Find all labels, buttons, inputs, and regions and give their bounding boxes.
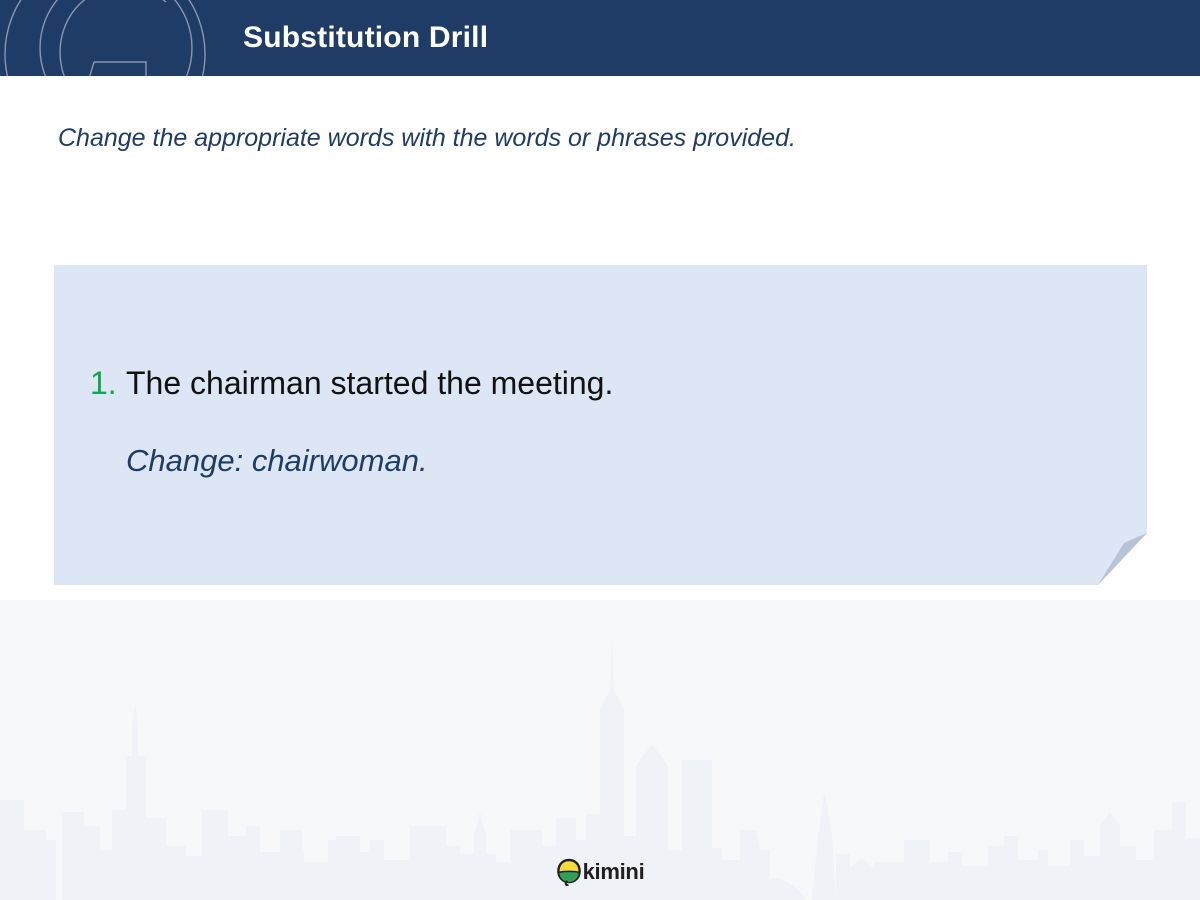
instruction-text: Change the appropriate words with the wo… (58, 120, 796, 156)
item-main-row: 1. The chairman started the meeting. (90, 360, 1090, 406)
item-change-instruction: Change: chairwoman. (126, 439, 1090, 483)
g-monogram-outline-icon (0, 0, 220, 76)
item-number: 1. (90, 360, 126, 406)
page-title: Substitution Drill (243, 0, 488, 76)
content-card: 1. The chairman started the meeting. Cha… (54, 265, 1147, 585)
header-bar: Substitution Drill (0, 0, 1200, 76)
kimini-balloon-icon (556, 858, 582, 886)
list-item: 1. The chairman started the meeting. Cha… (90, 360, 1090, 483)
footer-brand: kimini (0, 852, 1200, 892)
brand-name: kimini (583, 858, 645, 886)
slide-root: Substitution Drill Change the appropriat… (0, 0, 1200, 900)
item-sentence: The chairman started the meeting. (126, 360, 613, 406)
card-body: 1. The chairman started the meeting. Cha… (54, 265, 1147, 585)
